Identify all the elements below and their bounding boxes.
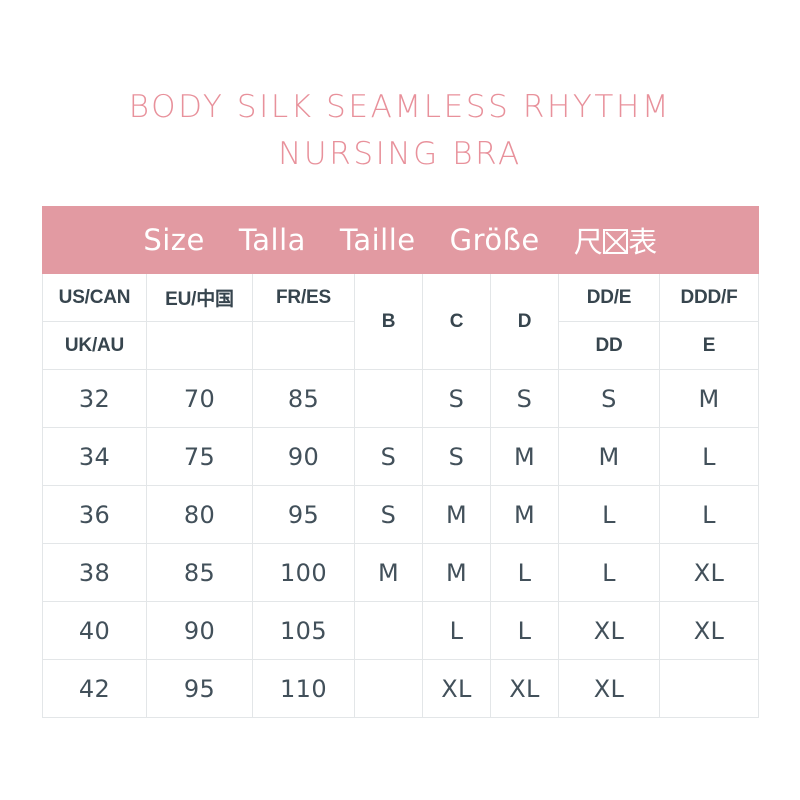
cell-fr-es: 85 [253, 370, 355, 428]
cell-us-can: 34 [43, 428, 147, 486]
size-chart-page: BODY SILK SEAMLESS RHYTHM NURSING BRA Si… [0, 0, 800, 800]
cell-cup-dd: M [559, 428, 660, 486]
header-cup-e: E [660, 322, 759, 370]
cell-cup-d: XL [491, 660, 559, 718]
cell-cup-ddd: XL [660, 544, 759, 602]
cell-cup-ddd: L [660, 486, 759, 544]
header-cup-d: D [491, 274, 559, 370]
cell-cup-c: S [423, 370, 491, 428]
size-chart-body: Size Talla Taille Größe 尺表 US/CAN EU/中国 … [43, 207, 759, 718]
cell-us-can: 32 [43, 370, 147, 428]
header-cup-dd: DD [559, 322, 660, 370]
header-cup-ddd-f: DDD/F [660, 274, 759, 322]
cell-cup-c: M [423, 544, 491, 602]
header-eu-cn: EU/中国 [147, 274, 253, 322]
missing-glyph-box-icon [603, 229, 628, 254]
cell-cup-d: M [491, 486, 559, 544]
cjk-prefix-char: 尺 [574, 219, 604, 261]
banner-label-size: Size [143, 223, 205, 257]
cell-cup-c: L [423, 602, 491, 660]
banner-label-taille: Taille [340, 223, 416, 257]
cell-us-can: 42 [43, 660, 147, 718]
cell-cup-b: M [355, 544, 423, 602]
header-uk-au: UK/AU [43, 322, 147, 370]
header-row-top: US/CAN EU/中国 FR/ES B C D DD/E DDD/F [43, 274, 759, 322]
cell-fr-es: 95 [253, 486, 355, 544]
page-title: BODY SILK SEAMLESS RHYTHM NURSING BRA [0, 84, 800, 178]
banner-cell: Size Talla Taille Größe 尺表 [43, 207, 759, 274]
cell-cup-b [355, 602, 423, 660]
header-cup-b: B [355, 274, 423, 370]
cell-cup-b [355, 660, 423, 718]
cell-cup-d: L [491, 602, 559, 660]
table-row: 40 90 105 L L XL XL [43, 602, 759, 660]
header-cup-dd-e: DD/E [559, 274, 660, 322]
cell-cup-d: L [491, 544, 559, 602]
cell-cup-dd: XL [559, 602, 660, 660]
cell-cup-d: M [491, 428, 559, 486]
cell-cup-ddd [660, 660, 759, 718]
cell-fr-es: 105 [253, 602, 355, 660]
cell-eu-cn: 85 [147, 544, 253, 602]
table-row: 36 80 95 S M M L L [43, 486, 759, 544]
table-row: 32 70 85 S S S M [43, 370, 759, 428]
cell-cup-b: S [355, 486, 423, 544]
cell-cup-dd: XL [559, 660, 660, 718]
banner-label-chinese: 尺表 [574, 219, 658, 261]
cell-eu-cn: 75 [147, 428, 253, 486]
cell-cup-b [355, 370, 423, 428]
cell-cup-c: XL [423, 660, 491, 718]
cell-us-can: 36 [43, 486, 147, 544]
cell-eu-cn: 80 [147, 486, 253, 544]
cell-cup-c: S [423, 428, 491, 486]
size-chart-table: Size Talla Taille Größe 尺表 US/CAN EU/中国 … [42, 206, 759, 718]
cjk-suffix-char: 表 [628, 219, 658, 261]
header-fr-es-alt [253, 322, 355, 370]
cell-eu-cn: 90 [147, 602, 253, 660]
cell-eu-cn: 95 [147, 660, 253, 718]
cell-cup-dd: L [559, 486, 660, 544]
banner-labels: Size Talla Taille Größe 尺表 [43, 219, 758, 261]
size-chart-table-wrapper: Size Talla Taille Größe 尺表 US/CAN EU/中国 … [42, 206, 758, 718]
table-row: 42 95 110 XL XL XL [43, 660, 759, 718]
cell-cup-dd: L [559, 544, 660, 602]
banner-label-talla: Talla [239, 223, 306, 257]
cell-fr-es: 90 [253, 428, 355, 486]
cell-cup-c: M [423, 486, 491, 544]
header-cup-c: C [423, 274, 491, 370]
table-row: 34 75 90 S S M M L [43, 428, 759, 486]
header-us-can: US/CAN [43, 274, 147, 322]
cell-us-can: 38 [43, 544, 147, 602]
header-eu-cn-alt [147, 322, 253, 370]
cell-fr-es: 100 [253, 544, 355, 602]
cell-cup-d: S [491, 370, 559, 428]
cell-cup-b: S [355, 428, 423, 486]
banner-row: Size Talla Taille Größe 尺表 [43, 207, 759, 274]
cell-cup-ddd: M [660, 370, 759, 428]
cell-eu-cn: 70 [147, 370, 253, 428]
table-row: 38 85 100 M M L L XL [43, 544, 759, 602]
cell-cup-dd: S [559, 370, 660, 428]
cell-fr-es: 110 [253, 660, 355, 718]
banner-label-grosse: Größe [450, 223, 540, 257]
cell-cup-ddd: L [660, 428, 759, 486]
cell-cup-ddd: XL [660, 602, 759, 660]
header-fr-es: FR/ES [253, 274, 355, 322]
cell-us-can: 40 [43, 602, 147, 660]
